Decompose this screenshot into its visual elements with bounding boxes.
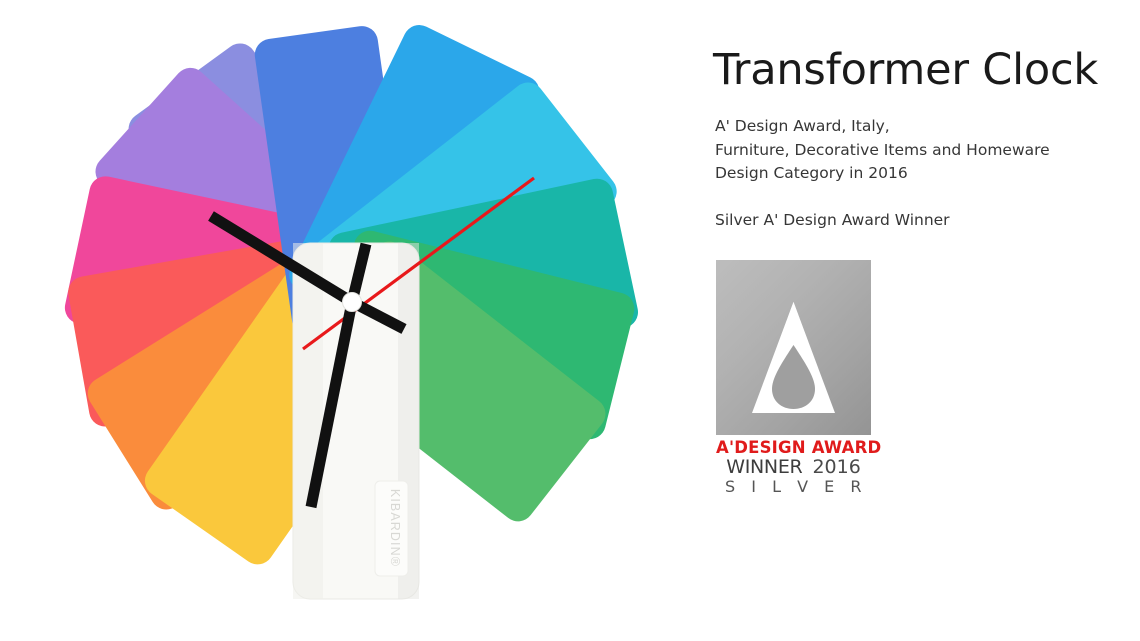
badge-level: S I L V E R xyxy=(716,477,871,496)
badge-logo-square xyxy=(716,260,871,435)
award-meta-line-3: Design Category in 2016 xyxy=(715,162,1050,186)
page-root: KIBARDIN® xyxy=(0,0,1140,641)
transformer-clock-illustration: KIBARDIN® xyxy=(0,0,700,641)
clock-pivot xyxy=(343,293,362,312)
product-image: KIBARDIN® xyxy=(0,0,700,641)
award-meta-line-2: Furniture, Decorative Items and Homeware xyxy=(715,139,1050,163)
a-design-award-logo-icon xyxy=(716,260,871,435)
badge-winner-word: WINNER xyxy=(726,456,802,478)
award-badge: A'DESIGN AWARD WINNER2016 S I L V E R xyxy=(716,260,871,496)
info-panel: Transformer Clock A' Design Award, Italy… xyxy=(713,0,1140,641)
award-meta: A' Design Award, Italy, Furniture, Decor… xyxy=(715,115,1050,186)
brand-label-plate: KIBARDIN® xyxy=(375,481,408,576)
award-meta-line-1: A' Design Award, Italy, xyxy=(715,115,1050,139)
badge-winner-year: WINNER2016 xyxy=(716,456,871,478)
award-level-text: Silver A' Design Award Winner xyxy=(715,211,950,229)
page-title: Transformer Clock xyxy=(713,47,1098,94)
brand-label-text: KIBARDIN® xyxy=(388,489,402,567)
badge-year: 2016 xyxy=(812,456,860,478)
badge-title: A'DESIGN AWARD xyxy=(716,438,871,457)
